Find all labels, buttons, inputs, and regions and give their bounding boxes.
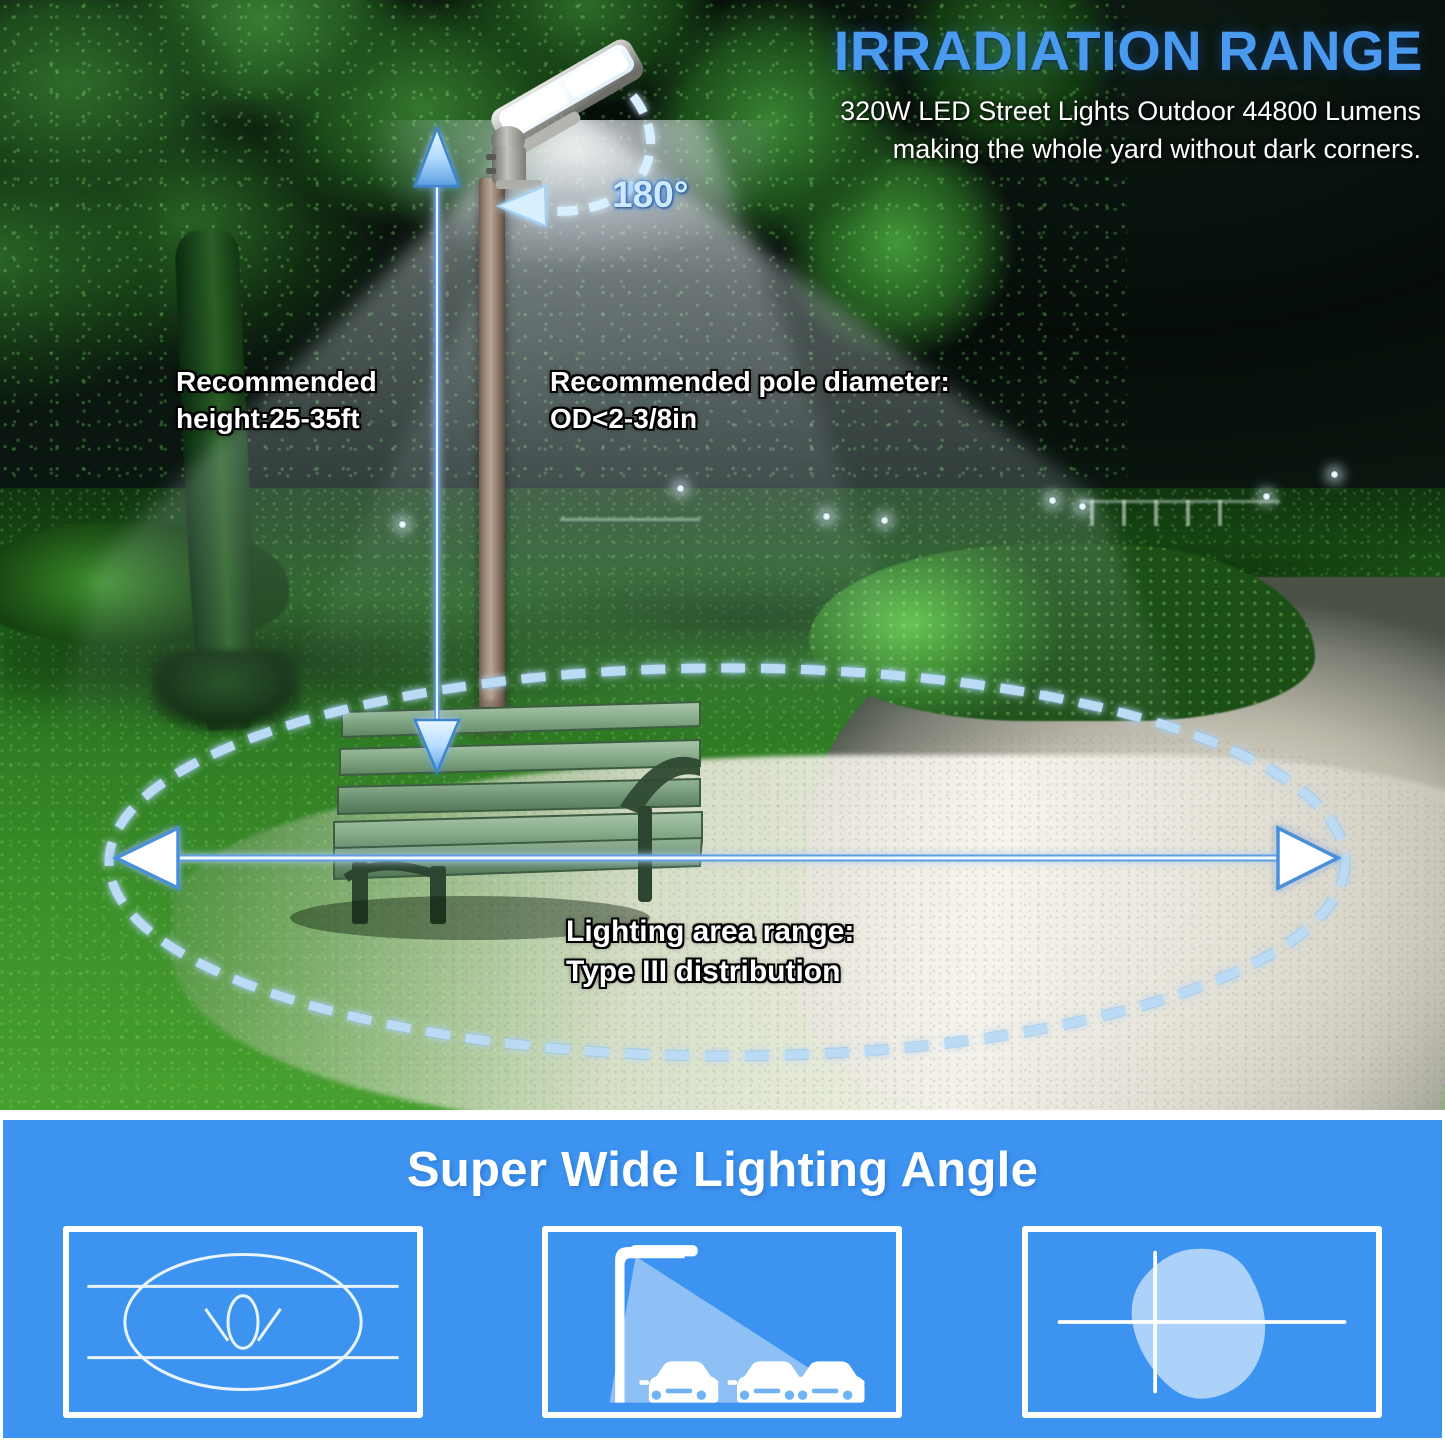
hedge-texture (809, 544, 1315, 722)
page-subtitle: 320W LED Street Lights Outdoor 44800 Lum… (840, 92, 1421, 169)
light-pole (479, 178, 505, 718)
recommended-height-label: Recommended height:25-35ft (176, 364, 377, 438)
distant-lamp (822, 512, 831, 521)
distant-lamp (880, 516, 889, 525)
feature-tile-row (3, 1226, 1442, 1426)
led-street-light-fixture (470, 28, 670, 193)
tile-beam-footprint-top-view (63, 1226, 423, 1418)
street-light-cars-icon (548, 1232, 896, 1412)
ellipse-footprint-icon (69, 1232, 417, 1412)
distant-lamp (1262, 492, 1271, 501)
tree-trunk-base (150, 650, 300, 760)
fence-post (1186, 500, 1190, 526)
page-title: IRRADIATION RANGE (834, 18, 1423, 83)
fence-post (1218, 500, 1222, 526)
rotation-angle-label: 180° (612, 174, 689, 216)
distant-lamp (1048, 496, 1057, 505)
tile-photometric-distribution (1022, 1226, 1382, 1418)
distant-fence (1080, 500, 1280, 503)
panel-title: Super Wide Lighting Angle (3, 1142, 1442, 1198)
distant-lamp (1078, 502, 1087, 511)
fence-post (1122, 500, 1126, 526)
distant-lamp (398, 520, 407, 529)
recommended-pole-diameter-label: Recommended pole diameter: OD<2-3/8in (550, 364, 950, 438)
super-wide-lighting-angle-panel: Super Wide Lighting Angle (0, 1117, 1445, 1441)
irradiation-range-photo-panel: IRRADIATION RANGE 320W LED Street Lights… (0, 0, 1445, 1110)
fence-post (1090, 500, 1094, 526)
distant-lamp (1330, 470, 1339, 479)
tile-pole-beam-side-view (542, 1226, 902, 1418)
photometric-blob-icon (1028, 1232, 1376, 1412)
light-pole-base (472, 700, 512, 740)
lighting-area-range-label: Lighting area range: Type III distributi… (566, 912, 854, 991)
distant-fence (560, 518, 700, 521)
fence-post (1154, 500, 1158, 526)
distant-lamp (676, 484, 685, 493)
